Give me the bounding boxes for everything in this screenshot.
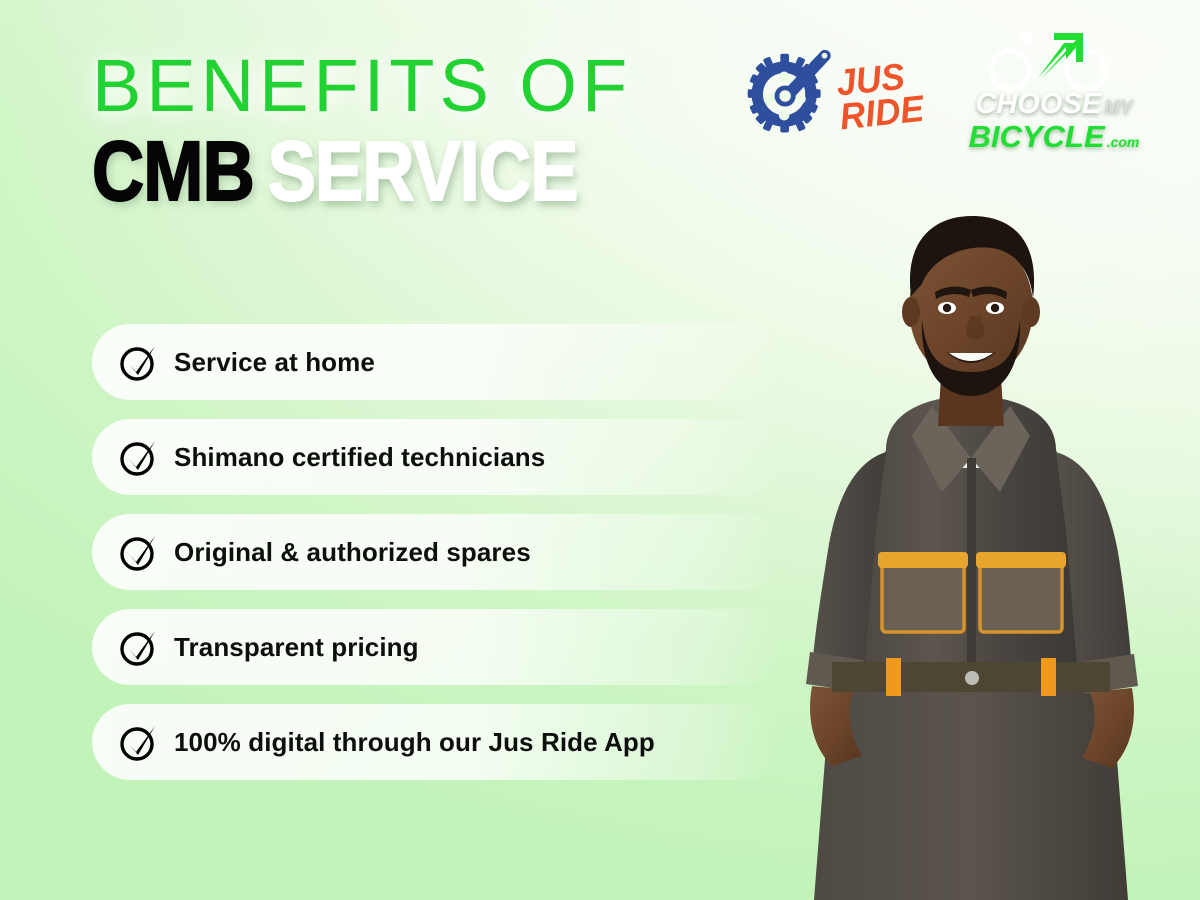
check-circle-icon (118, 532, 158, 572)
choosemybicycle-wordmark: CHOOSEMY BICYCLE.com (954, 90, 1154, 152)
list-item[interactable]: Original & authorized spares (92, 514, 782, 590)
choosemybicycle-logo[interactable]: CHOOSEMY BICYCLE.com (954, 30, 1154, 162)
headline-brand: CMB (92, 124, 254, 218)
cmb-word-bicycle: BICYCLE.com (954, 121, 1154, 152)
jusride-wordmark: JUS RIDE (835, 58, 930, 135)
cmb-word-choose: CHOOSEMY (954, 90, 1154, 119)
headline-word: SERVICE (268, 124, 578, 218)
list-item[interactable]: Service at home (92, 324, 782, 400)
cmb-word-dotcom: .com (1107, 134, 1140, 150)
list-item[interactable]: Shimano certified technicians (92, 419, 782, 495)
chainring-crank-icon (740, 46, 836, 146)
check-circle-icon (118, 627, 158, 667)
benefits-list: Service at home Shimano certified techni… (92, 324, 782, 799)
bicycle-arrow-icon (980, 30, 1120, 92)
list-item-label: 100% digital through our Jus Ride App (174, 727, 655, 758)
list-item[interactable]: Transparent pricing (92, 609, 782, 685)
list-item-label: Service at home (174, 347, 375, 378)
logo-bar: JUS RIDE CHOOSEMY BICYCLE.com (740, 26, 1180, 166)
jusride-logo[interactable]: JUS RIDE (740, 36, 930, 156)
list-item[interactable]: 100% digital through our Jus Ride App (92, 704, 782, 780)
headline-line-2: CMBSERVICE (92, 132, 578, 212)
list-item-label: Shimano certified technicians (174, 442, 545, 473)
cmb-word-my: MY (1104, 97, 1133, 118)
check-circle-icon (118, 342, 158, 382)
list-item-label: Original & authorized spares (174, 537, 531, 568)
jusride-line-2: RIDE (838, 92, 925, 135)
check-circle-icon (118, 722, 158, 762)
headline-line-1: BENEFITS OF (92, 52, 657, 120)
check-circle-icon (118, 437, 158, 477)
technician-figure (736, 200, 1200, 900)
technician-photo (736, 200, 1200, 900)
poster: BENEFITS OF CMBSERVICE (0, 0, 1200, 900)
page-title: BENEFITS OF CMBSERVICE (92, 52, 657, 212)
list-item-label: Transparent pricing (174, 632, 419, 663)
